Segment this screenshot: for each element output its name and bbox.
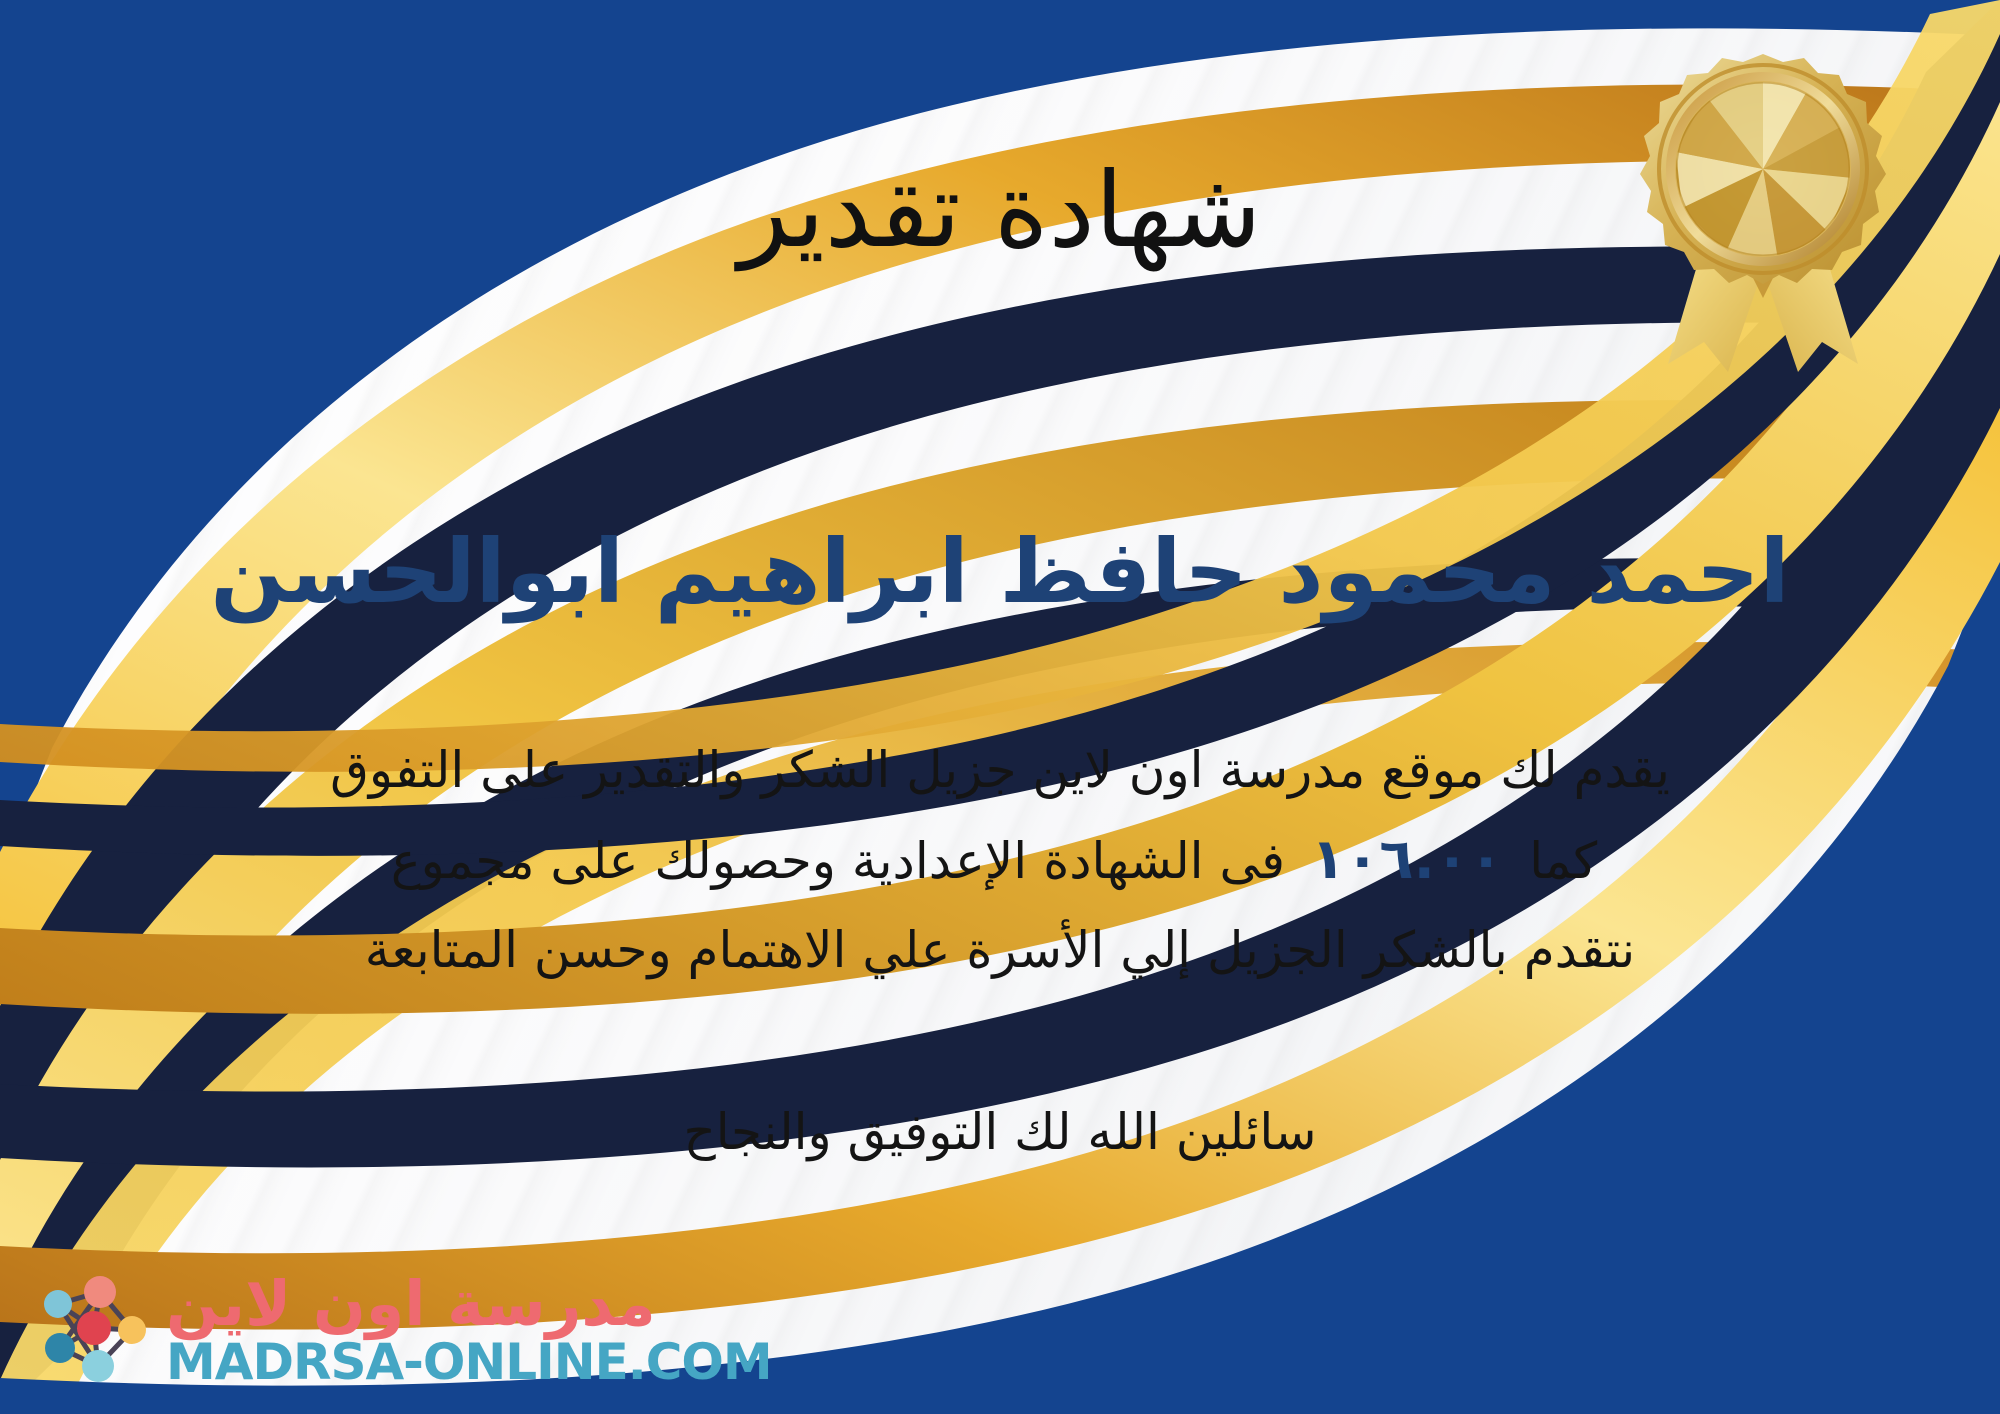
certificate-page: شهادة تقدير احمد محمود حافظ ابراهيم ابوا… (0, 0, 2000, 1414)
brand-website-url[interactable]: MADRSA-ONLINE.COM (166, 1335, 772, 1389)
recipient-name: احمد محمود حافظ ابراهيم ابوالحسن (0, 520, 2000, 624)
total-score-value: ١٠٦.٠٠ (1285, 815, 1529, 904)
body-line-2-prefix: فى الشهادة الإعدادية وحصولك على مجموع (357, 817, 1285, 906)
certificate-body: يقدم لك موقع مدرسة اون لاين جزيل الشكر و… (70, 726, 1930, 995)
certificate-content: شهادة تقدير احمد محمود حافظ ابراهيم ابوا… (0, 0, 2000, 1414)
node-steel-blue (45, 1333, 75, 1363)
node-red (77, 1311, 111, 1345)
closing-wish-line: سائلين الله لك التوفيق والنجاح (0, 1100, 2000, 1165)
brand-arabic-name: مدرسة اون لاين (166, 1273, 656, 1335)
node-coral (84, 1276, 116, 1308)
node-sky (82, 1350, 114, 1382)
node-light-blue (44, 1290, 72, 1318)
node-yellow (118, 1316, 146, 1344)
body-line-1: يقدم لك موقع مدرسة اون لاين جزيل الشكر و… (70, 726, 1930, 815)
certificate-title: شهادة تقدير (0, 152, 2000, 268)
brand-text-block: مدرسة اون لاين MADRSA-ONLINE.COM (166, 1273, 772, 1389)
body-line-2: كما ١٠٦.٠٠ فى الشهادة الإعدادية وحصولك ع… (70, 815, 1930, 906)
brand-logo[interactable]: مدرسة اون لاين MADRSA-ONLINE.COM (34, 1272, 772, 1390)
body-line-3: نتقدم بالشكر الجزيل إلي الأسرة علي الاهت… (70, 906, 1930, 995)
network-nodes-icon (34, 1272, 152, 1390)
body-line-2-suffix: كما (1529, 817, 1643, 906)
